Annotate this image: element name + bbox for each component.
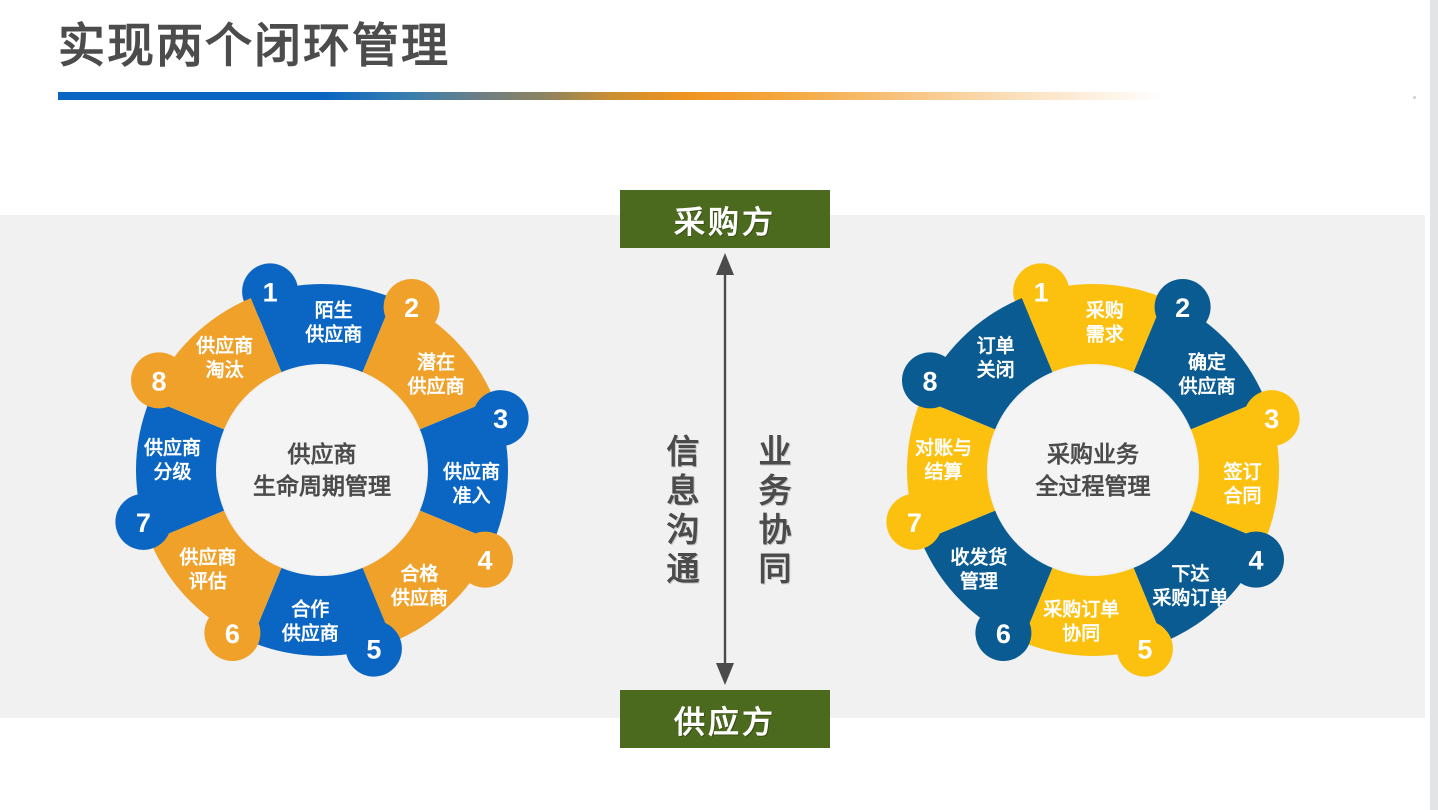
segment-label-line: 采购订单 (1043, 598, 1119, 621)
segment-label-line: 供应商 (1178, 375, 1236, 398)
segment-label-line: 采购订单 (1152, 586, 1228, 609)
vertical-label-information-exchange: 信息沟通 (664, 434, 697, 590)
segment-label-line: 分级 (153, 460, 191, 483)
arrow-column: 信息沟通 业务协同 (620, 248, 830, 690)
segment-number: 6 (225, 619, 240, 649)
top-edge-strip (0, 0, 1430, 4)
segment-label-line: 结算 (924, 460, 962, 483)
segment-number: 3 (1264, 404, 1279, 434)
wheel-left-hub-line1: 供应商 (287, 441, 357, 467)
segment-label-line: 需求 (1086, 322, 1125, 345)
segment-label-line: 合格 (400, 562, 439, 585)
segment-number: 1 (1034, 277, 1049, 307)
segment-label-line: 供应商 (390, 586, 448, 609)
party-box-supplier: 供应方 (620, 690, 830, 748)
segment-label-line: 准入 (453, 485, 491, 507)
vertical-label-business-collaboration: 业务协同 (756, 434, 789, 590)
segment-label-line: 供应商 (178, 545, 236, 568)
segment-label-line: 供应商 (304, 322, 362, 345)
segment-number: 4 (1248, 546, 1263, 576)
segment-label-line: 收发货 (950, 545, 1007, 568)
segment-label-line: 供应商 (442, 460, 500, 483)
segment-label-line: 下达 (1171, 562, 1209, 585)
page-title: 实现两个闭环管理 (58, 18, 450, 73)
segment-number: 1 (263, 277, 278, 307)
slide-canvas: 实现两个闭环管理 1陌生供应商2潜在供应商3供应商准入4合格供应商5合作供应商6… (0, 0, 1438, 810)
segment-label-line: 供应商 (143, 436, 201, 459)
segment-label-line: 供应商 (281, 622, 339, 645)
segment-label-line: 供应商 (195, 334, 253, 357)
segment-number: 5 (366, 635, 381, 665)
segment-number: 8 (151, 366, 166, 396)
segment-number: 7 (907, 508, 922, 538)
segment-number: 6 (996, 619, 1011, 649)
segment-label-line: 管理 (960, 569, 998, 592)
wheel-left-hub-line2: 生命周期管理 (253, 473, 391, 499)
segment-label-line: 评估 (189, 569, 227, 592)
double-headed-vertical-arrow-icon (620, 248, 830, 690)
party-box-buyer: 采购方 (620, 190, 830, 248)
middle-column: 采购方 信息沟通 业务协同 供应方 (620, 190, 830, 750)
right-edge-scrollbar[interactable] (1430, 0, 1438, 810)
segment-label-line: 确定 (1188, 351, 1226, 374)
segment-number: 4 (477, 546, 492, 576)
segment-number: 3 (493, 404, 508, 434)
segment-label-line: 合作 (291, 598, 329, 621)
wheel-right-hub-circle (989, 366, 1197, 574)
wheel-right-hub-line1: 采购业务 (1047, 441, 1140, 467)
segment-number: 5 (1137, 635, 1152, 665)
right-edge-marker-dot (1413, 96, 1416, 99)
wheel-left-svg: 1陌生供应商2潜在供应商3供应商准入4合格供应商5合作供应商6供应商评估7供应商… (102, 250, 542, 690)
segment-label-line: 采购 (1086, 298, 1124, 321)
wheel-procurement-process[interactable]: 1采购需求2确定供应商3签订合同4下达采购订单5采购订单协同6收发货管理7对账与… (873, 250, 1313, 690)
segment-label-line: 关闭 (977, 358, 1015, 381)
segment-number: 2 (1175, 293, 1190, 323)
wheel-supplier-lifecycle[interactable]: 1陌生供应商2潜在供应商3供应商准入4合格供应商5合作供应商6供应商评估7供应商… (102, 250, 542, 690)
wheel-right-hub-line2: 全过程管理 (1035, 473, 1151, 499)
segment-label-line: 对账与 (915, 436, 972, 459)
segment-label-line: 协同 (1062, 622, 1100, 645)
segment-label-line: 签订 (1223, 460, 1262, 483)
segment-label-line: 订单 (977, 334, 1015, 357)
segment-label-line: 陌生 (315, 298, 353, 321)
segment-number: 7 (136, 508, 151, 538)
segment-label-line: 供应商 (407, 375, 465, 398)
segment-label-line: 合同 (1224, 484, 1262, 507)
segment-label-line: 淘汰 (206, 358, 245, 381)
wheel-right-svg: 1采购需求2确定供应商3签订合同4下达采购订单5采购订单协同6收发货管理7对账与… (873, 250, 1313, 690)
segment-label-line: 潜在 (417, 351, 455, 374)
segment-number: 8 (922, 366, 937, 396)
segment-number: 2 (404, 293, 419, 323)
wheel-left-hub-circle (218, 366, 426, 574)
title-underline-rule (58, 92, 1162, 100)
